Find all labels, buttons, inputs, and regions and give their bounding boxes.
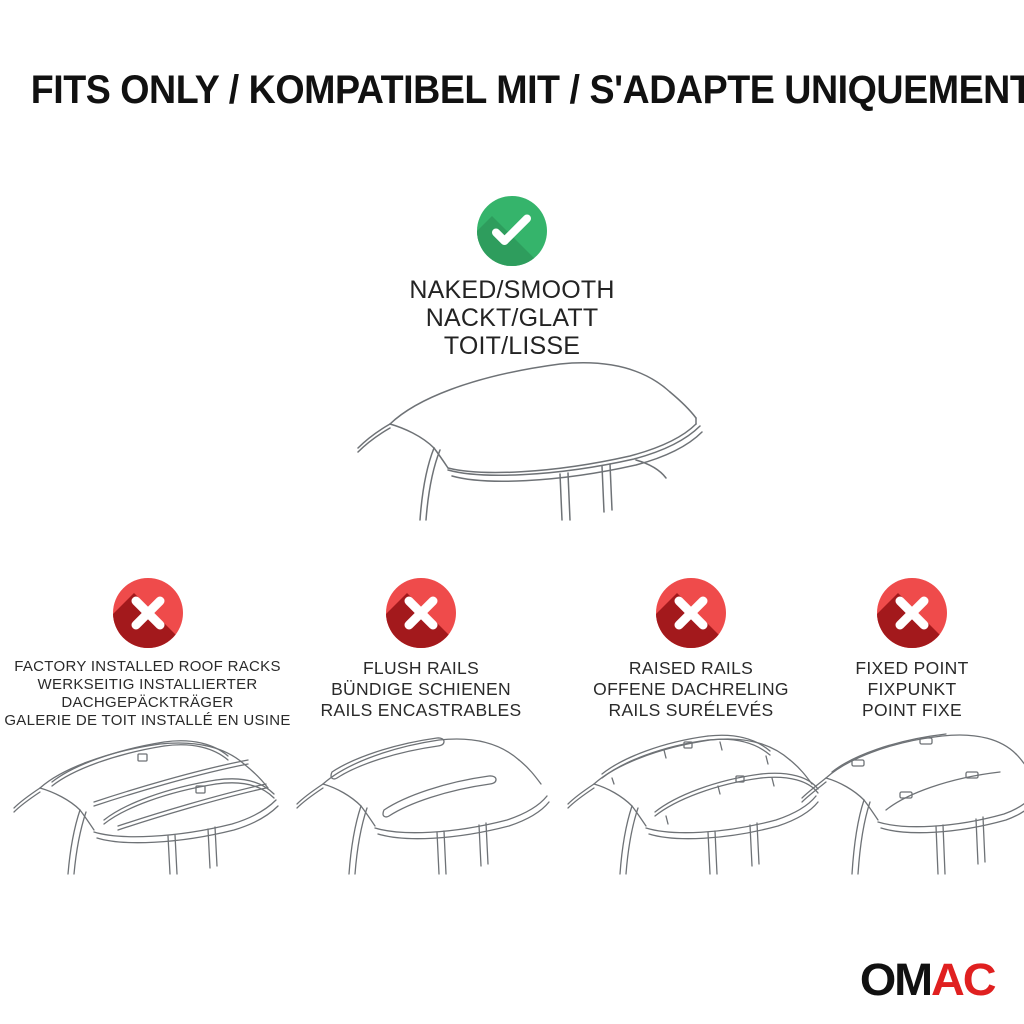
naked-smooth-roof-illustration xyxy=(330,352,710,522)
panel-labels: RAISED RAILS OFFENE DACHRELING RAILS SUR… xyxy=(560,658,822,721)
badge-wrap xyxy=(800,578,1024,650)
raised-rails-illustration xyxy=(560,726,822,876)
page-title: FITS ONLY / KOMPATIBEL MIT / S'ADAPTE UN… xyxy=(31,68,994,113)
panel-label-fr: POINT FIXE xyxy=(800,700,1024,721)
compatible-label-en: NAKED/SMOOTH xyxy=(0,276,1024,304)
incompatible-panel-flush-rails: FLUSH RAILS BÜNDIGE SCHIENEN RAILS ENCAS… xyxy=(285,578,557,721)
fixed-point-illustration xyxy=(800,726,1024,876)
panel-label-de: OFFENE DACHRELING xyxy=(560,679,822,700)
panel-label-en: FACTORY INSTALLED ROOF RACKS xyxy=(0,658,295,676)
panel-labels: FLUSH RAILS BÜNDIGE SCHIENEN RAILS ENCAS… xyxy=(285,658,557,721)
flush-rails-illustration xyxy=(285,726,557,876)
panel-label-en: FIXED POINT xyxy=(800,658,1024,679)
panel-label-de: BÜNDIGE SCHIENEN xyxy=(285,679,557,700)
badge-wrap xyxy=(0,578,295,650)
check-circle-icon xyxy=(477,196,547,266)
panel-label-en: RAISED RAILS xyxy=(560,658,822,679)
incompatible-panel-fixed-point: FIXED POINT FIXPUNKT POINT FIXE xyxy=(800,578,1024,721)
omac-logo: OMAC xyxy=(859,957,994,1002)
incompatible-panel-factory-installed-roof-racks: FACTORY INSTALLED ROOF RACKS WERKSEITIG … xyxy=(0,578,295,730)
compatible-roof-type: NAKED/SMOOTH NACKT/GLATT TOIT/LISSE xyxy=(0,196,1024,360)
logo-text-dark: OM xyxy=(859,954,930,1005)
logo-text-red: AC xyxy=(931,954,994,1005)
panel-label-fr: RAILS SURÉLEVÉS xyxy=(560,700,822,721)
panel-label-fr: RAILS ENCASTRABLES xyxy=(285,700,557,721)
incompatible-panel-raised-rails: RAISED RAILS OFFENE DACHRELING RAILS SUR… xyxy=(560,578,822,721)
panel-label-de: FIXPUNKT xyxy=(800,679,1024,700)
panel-label-de-2: DACHGEPÄCKTRÄGER xyxy=(0,694,295,712)
x-circle-icon xyxy=(386,578,456,648)
compatible-label-de: NACKT/GLATT xyxy=(0,304,1024,332)
x-circle-icon xyxy=(113,578,183,648)
badge-wrap xyxy=(285,578,557,650)
badge-wrap xyxy=(560,578,822,650)
factory-roof-rack-illustration xyxy=(0,726,295,876)
compatible-labels: NAKED/SMOOTH NACKT/GLATT TOIT/LISSE xyxy=(0,276,1024,360)
x-circle-icon xyxy=(877,578,947,648)
panel-labels: FACTORY INSTALLED ROOF RACKS WERKSEITIG … xyxy=(0,658,295,730)
panel-label-en: FLUSH RAILS xyxy=(285,658,557,679)
panel-label-de-1: WERKSEITIG INSTALLIERTER xyxy=(0,676,295,694)
panel-labels: FIXED POINT FIXPUNKT POINT FIXE xyxy=(800,658,1024,721)
x-circle-icon xyxy=(656,578,726,648)
